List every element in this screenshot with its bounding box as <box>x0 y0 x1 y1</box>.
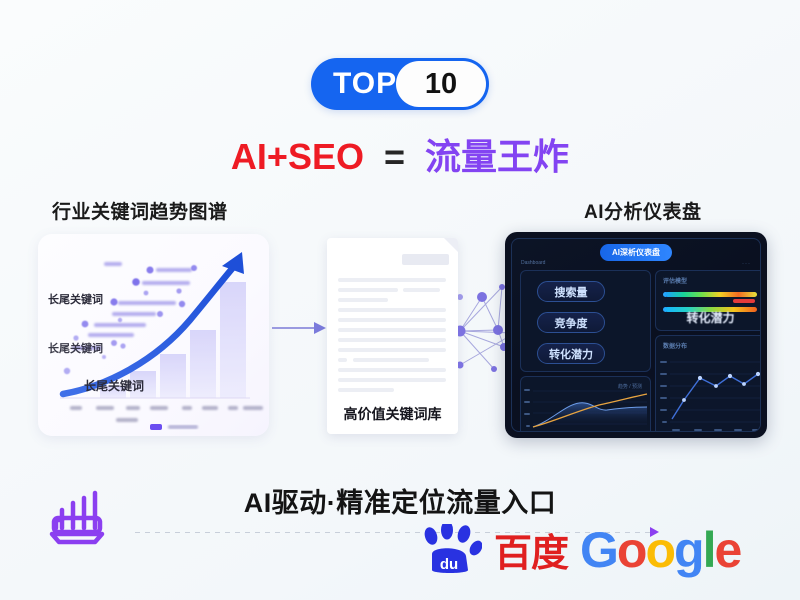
dashboard-area-chart-panel: 趋势 / 预测 <box>520 376 651 432</box>
line-panel-title: 数据分布 <box>663 341 687 350</box>
google-letter-o1: o <box>617 522 646 578</box>
metric-pill-conversion[interactable]: 转化潜力 <box>537 343 605 364</box>
doc-text-lines <box>338 278 446 398</box>
google-letter-l: l <box>703 522 715 578</box>
google-letter-o2: o <box>645 522 674 578</box>
baidu-du-text: du <box>440 556 458 573</box>
keyword-label-2: 长尾关键词 <box>48 340 103 356</box>
ai-dashboard-device: AI深析仪表盘 Dashboard ··· 搜索量 竞争度 转化潜力 趋势 / … <box>505 232 767 438</box>
keyword-trend-chart-svg <box>38 234 269 436</box>
main-title: AI+SEO = 流量王炸 <box>0 128 800 180</box>
title-ai-seo: AI+SEO <box>231 136 364 177</box>
gauge-panel-title: 评估模型 <box>663 276 687 285</box>
area-chart-fill <box>533 403 647 427</box>
dashboard-line-chart-panel: 数据分布 <box>655 335 761 432</box>
top-badge-label: TOP <box>333 67 397 101</box>
gauge-overlay-label: 转化潜力 <box>656 309 761 326</box>
doc-caption: 高价值关键词库 <box>327 404 458 424</box>
google-letter-e: e <box>714 522 740 578</box>
top-rank-badge: TOP 10 <box>311 58 489 110</box>
bottom-slogan: AI驱动·精准定位流量入口 <box>0 481 800 520</box>
section-label-left: 行业关键词趋势图谱 <box>52 197 228 224</box>
flow-arrow-left-to-doc <box>272 320 328 336</box>
metric-pill-competition[interactable]: 竞争度 <box>537 312 605 333</box>
metric-pill-search-volume[interactable]: 搜索量 <box>537 281 605 302</box>
top-badge-number: 10 <box>396 61 486 107</box>
gauge-bar-1 <box>665 292 757 297</box>
line-chart-series <box>672 374 758 419</box>
gauge-alert-tag <box>733 299 755 303</box>
line-chart-svg <box>656 336 761 432</box>
baidu-paw-icon: du <box>420 524 482 576</box>
keyword-label-3: 长尾关键词 <box>84 377 144 394</box>
dashboard-gauge-panel: 评估模型 转化潜力 <box>655 270 761 331</box>
dashboard-menu-dots[interactable]: ··· <box>742 261 751 267</box>
title-equals: = <box>384 136 405 177</box>
partner-logos: du 百度 Google <box>420 522 740 577</box>
chart-axis-ticks <box>70 406 263 422</box>
dashboard-breadcrumb: Dashboard <box>521 260 545 266</box>
doc-fold-corner <box>444 238 458 252</box>
google-letter-g1: G <box>580 522 617 578</box>
ai-dashboard-screen: AI深析仪表盘 Dashboard ··· 搜索量 竞争度 转化潜力 趋势 / … <box>511 238 761 432</box>
dashboard-metrics-panel: 搜索量 竞争度 转化潜力 <box>520 270 651 372</box>
keyword-library-doc-card: 高价值关键词库 <box>327 238 458 434</box>
section-label-right: AI分析仪表盘 <box>584 197 702 224</box>
keyword-label-1: 长尾关键词 <box>48 291 103 307</box>
google-wordmark: Google <box>580 525 740 575</box>
google-letter-g2: g <box>674 522 703 578</box>
baidu-wordmark: 百度 <box>494 522 568 577</box>
chart-legend-label <box>168 425 198 429</box>
dashboard-header-badge: AI深析仪表盘 <box>600 244 672 261</box>
keyword-trend-chart-card: 长尾关键词 长尾关键词 长尾关键词 <box>38 234 269 436</box>
area-chart-legend: 趋势 / 预测 <box>618 383 642 390</box>
doc-header-block <box>402 254 449 265</box>
title-traffic-boom: 流量王炸 <box>425 136 569 177</box>
chart-legend-swatch <box>150 424 162 430</box>
